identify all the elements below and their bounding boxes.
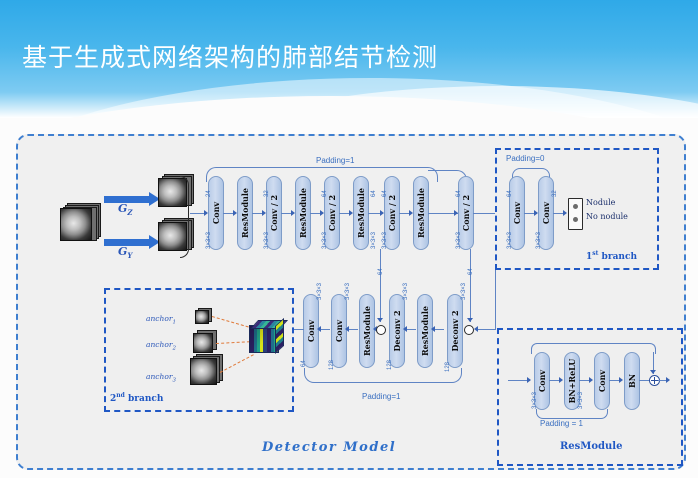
skip-arrow-1: [377, 318, 383, 322]
encoder-block-label: Conv / 2: [461, 195, 471, 231]
concat-node-2: [464, 325, 474, 335]
generator-z-label: GZ: [118, 202, 133, 217]
decoder-block-label: ResModule: [362, 306, 372, 356]
branch1-ch-2: 32: [552, 190, 558, 197]
decoder-padding-bracket: [304, 368, 462, 383]
encoder-block-label: ResModule: [416, 188, 426, 238]
skip-arrow-2: [467, 318, 473, 322]
encoder-block-resmodule-1[interactable]: ResModule: [237, 176, 253, 250]
anchor-2-label: anchor2: [146, 340, 176, 352]
branch-2-label: 2nd branch: [110, 392, 163, 404]
resmodule-skip-curve: [531, 343, 656, 354]
decoder-ch-1: 64: [301, 360, 307, 367]
decoder-k-4: 3×3×3: [461, 283, 467, 300]
encoder-block-label: ResModule: [356, 188, 366, 238]
slide-root: 基于生成式网络架构的肺部结节检测 GZ GY Padding=1 Conv 24…: [0, 0, 698, 478]
encoder-k-5: 3×3×3: [382, 232, 388, 249]
encoder-k-1: 3×3×3: [206, 232, 212, 249]
branch1-output-nodule: Nodule: [586, 198, 615, 207]
resmodule-output-arrow: [666, 377, 670, 383]
encoder-k-2: 3×3×3: [264, 232, 270, 249]
resmodule-block-label: BN: [627, 374, 637, 388]
branch1-output-no-nodule: No nodule: [586, 212, 628, 221]
decoder-block-label: Conv: [334, 320, 344, 342]
input-brace: [180, 176, 189, 258]
skip-line-2: [470, 249, 471, 322]
branch1-block-label: Conv: [512, 202, 522, 224]
decoder-k-2: 3×3×3: [345, 283, 351, 300]
resmodule-block-label: Conv: [537, 370, 547, 392]
encoder-padding-label: Padding=1: [316, 156, 354, 165]
decoder-block-label: ResModule: [420, 306, 430, 356]
encoder-ch-6: 64: [456, 190, 462, 197]
resmodule-padding-label: Padding = 1: [540, 419, 583, 428]
resmodule-skip-arrow: [650, 370, 656, 374]
encoder-k-3: 3×3×3: [322, 232, 328, 249]
decoder-padding-label: Padding=1: [362, 392, 400, 401]
decoder-k-1: 3×3×3: [317, 283, 323, 300]
anchor-1-label: anchor1: [146, 314, 176, 326]
resmodule-k-2: 3×3×3: [578, 392, 584, 409]
resmodule-title: ResModule: [560, 441, 622, 452]
decoder-block-label: Deconv 2: [450, 310, 460, 351]
detector-model-label: Detector Model: [262, 440, 396, 455]
encoder-ch-3: 64: [322, 190, 328, 197]
resmodule-block-label: BN+ReLU: [567, 359, 577, 404]
resmodule-block-conv-2[interactable]: Conv: [594, 352, 610, 410]
encoder-ch-4: 64: [371, 190, 377, 197]
branch1-ch-1: 64: [507, 190, 513, 197]
resmodule-k-1: 3×3×3: [532, 392, 538, 409]
branch1-padding-label: Padding=0: [506, 154, 544, 163]
skip-label-1: 64: [378, 268, 384, 275]
resmodule-input-arrow: [527, 377, 531, 383]
encoder-ch-1: 24: [206, 190, 212, 197]
encoder-to-decoder-arrow: [474, 326, 478, 332]
skip-label-2: 64: [468, 268, 474, 275]
encoder-k-4: 3×3×3: [371, 232, 377, 249]
encoder-block-label: ResModule: [240, 188, 250, 238]
branch1-block-label: Conv: [541, 202, 551, 224]
page-title: 基于生成式网络架构的肺部结节检测: [22, 38, 438, 74]
encoder-block-label: Conv / 2: [387, 195, 397, 231]
encoder-block-resmodule-3[interactable]: ResModule: [353, 176, 369, 250]
encoder-block-label: Conv: [211, 202, 221, 224]
anchor-2-cube: [193, 333, 213, 353]
branch1-k-2: 3×3×3: [536, 232, 542, 249]
resmodule-block-label: Conv: [597, 370, 607, 392]
decoder-block-deconv-2[interactable]: Deconv 2: [447, 294, 463, 368]
encoder-ch-2: 32: [264, 190, 270, 197]
skip-line-1: [380, 249, 381, 322]
encoder-to-decoder-line-h: [478, 329, 496, 330]
generator-y-label: GY: [118, 245, 132, 260]
encoder-block-label: Conv / 2: [269, 195, 279, 231]
resmodule-padding-bracket: [536, 409, 608, 419]
encoder-block-resmodule-2[interactable]: ResModule: [295, 176, 311, 250]
anchor-3-cube: [190, 358, 218, 386]
feature-map-cube: [249, 325, 279, 353]
branch1-output-indicator: [568, 198, 583, 230]
encoder-ch-5: 64: [382, 190, 388, 197]
resmodule-block-bn[interactable]: BN: [624, 352, 640, 410]
decoder-k-3: 3×3×3: [403, 283, 409, 300]
decoder-block-label: Deconv 2: [392, 310, 402, 351]
anchor-1-cube: [195, 310, 209, 324]
anchor-3-label: anchor3: [146, 372, 176, 384]
decoder-block-label: Conv: [306, 320, 316, 342]
branch1-k-1: 3×3×3: [507, 232, 513, 249]
input-ct-volume: [60, 208, 94, 242]
encoder-block-label: Conv / 2: [327, 195, 337, 231]
encoder-k-6: 3×3×3: [456, 232, 462, 249]
concat-node-1: [376, 325, 386, 335]
input-feed-line: [190, 213, 205, 214]
encoder-block-resmodule-4[interactable]: ResModule: [413, 176, 429, 250]
encoder-block-label: ResModule: [298, 188, 308, 238]
branch-1-label: 1st branch: [586, 250, 637, 262]
